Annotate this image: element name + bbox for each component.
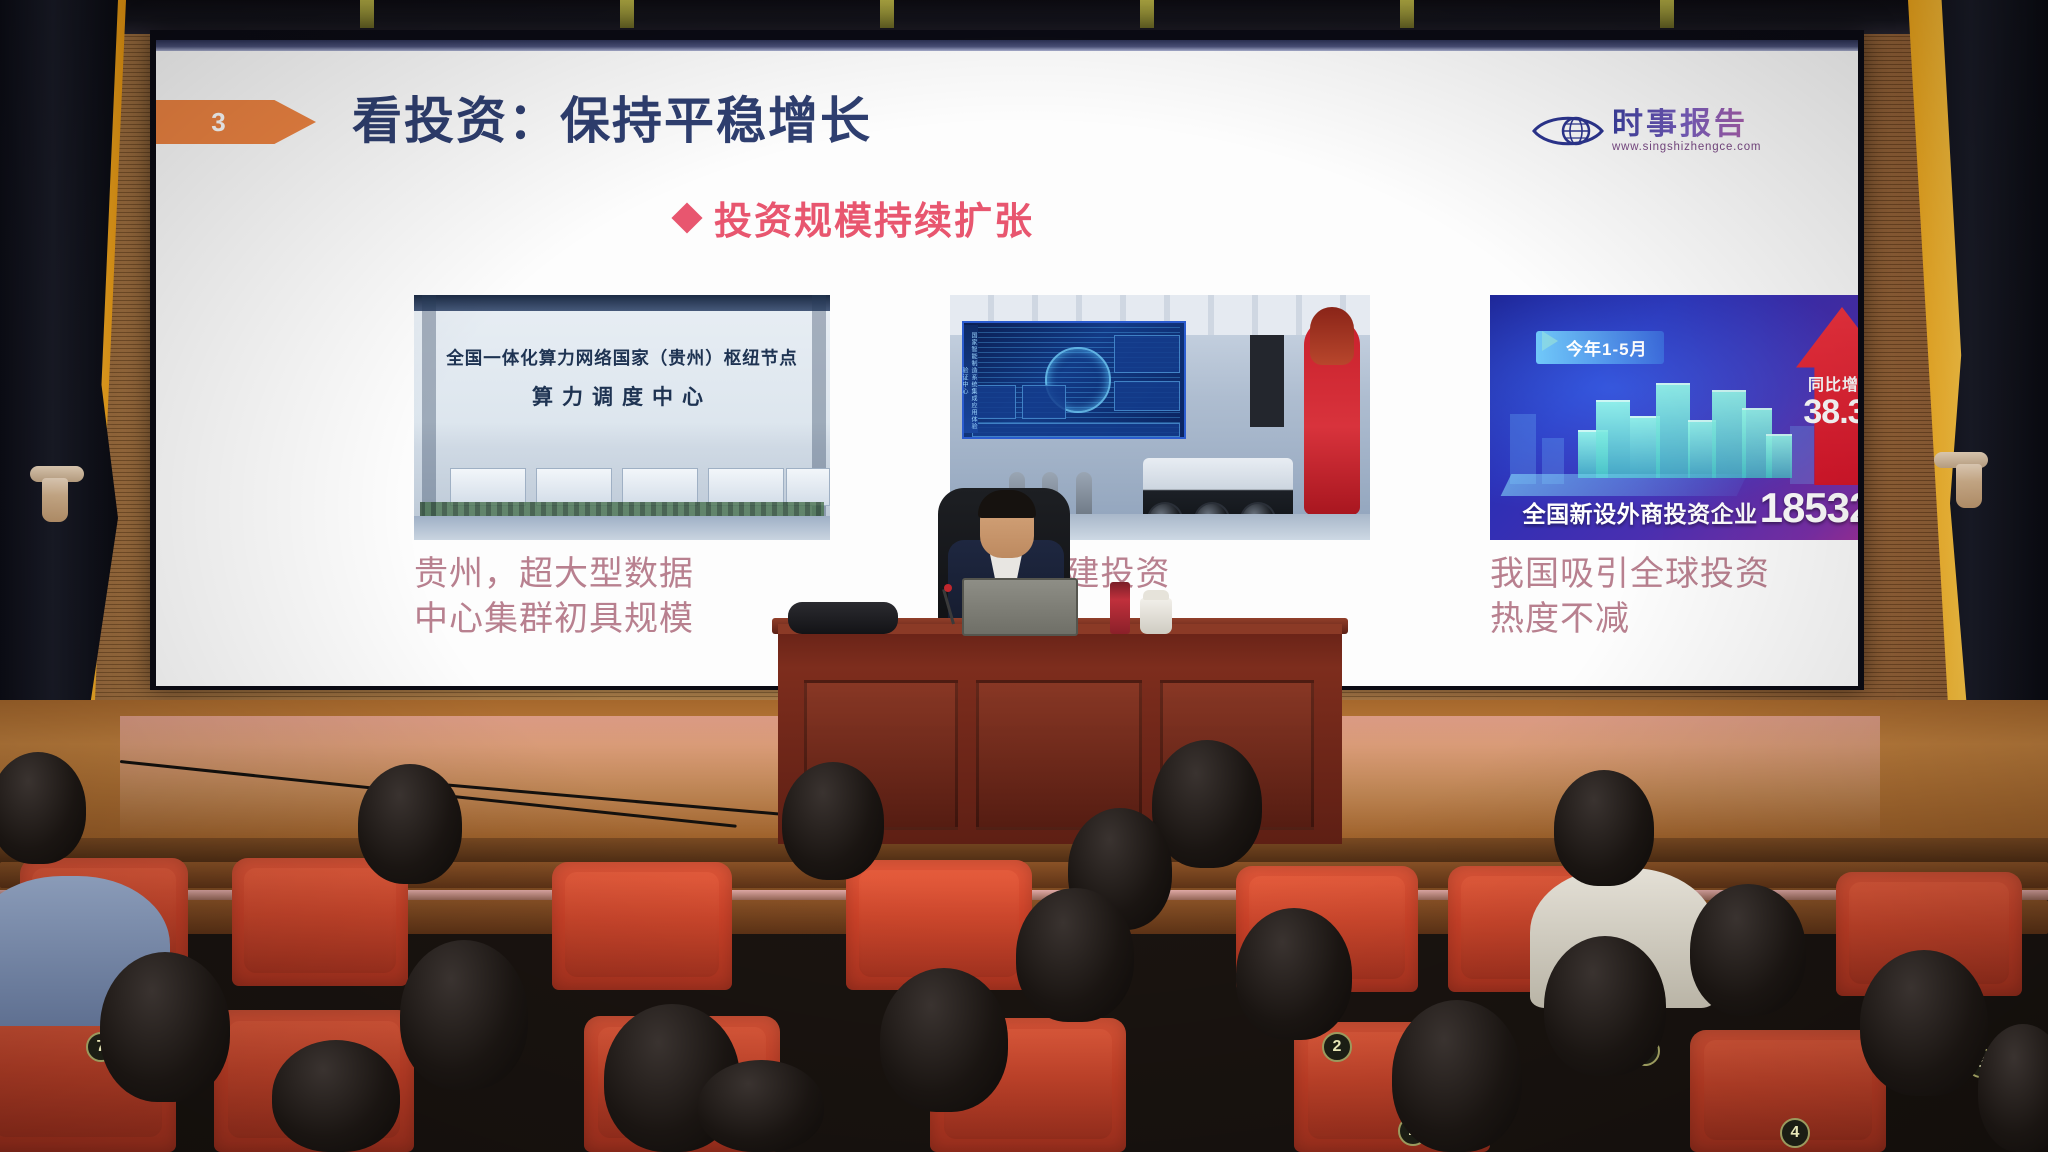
section-number-badge: 3 [156,100,316,144]
ceiling-light-strip [360,0,374,28]
stats-footer: 全国新设外商投资企业 18532 家 [1490,484,1858,532]
slide-header: 3 看投资：保持平稳增长 时事报告 www.singshizhengce.com [156,86,1858,156]
slide-image-guizhou-hub: 全国一体化算力网络国家（贵州）枢纽节点 算力调度中心 [414,295,830,540]
audience-head [1860,950,1988,1096]
slide-subtitle: 投资规模持续扩张 [676,190,1034,245]
desk-bag [788,602,898,634]
seat-number-badge: 2 [1322,1032,1352,1062]
exhibit-booth [708,468,784,506]
hall-header-band [414,295,830,311]
growth-value: 38.3% [1792,393,1858,432]
ceiling-band [0,0,2048,34]
growth-label: 同比增长 [1798,371,1858,395]
hall-signage-line2: 算力调度中心 [414,381,830,411]
video-wall [962,321,1186,439]
skyline-silhouette [1790,426,1814,484]
slide-top-border [156,40,1858,51]
panel-caption-foreign-investment: 我国吸引全球投资 热度不减 [1490,552,1858,642]
hall-signage-line1: 全国一体化算力网络国家（贵州）枢纽节点 [414,345,830,370]
bar [1712,390,1746,478]
audience-head [400,940,528,1090]
ceiling-light-strip [1660,0,1674,28]
brand-url: www.singshizhengce.com [1612,142,1761,154]
period-label: 今年1-5月 [1536,331,1664,364]
ceiling-light-strip [1400,0,1414,28]
visitor-hair [1310,307,1354,365]
audience-head [880,968,1008,1112]
ceiling-light-strip [1140,0,1154,28]
exhibit-booth [450,468,526,506]
video-wall-tile [1114,381,1180,411]
room-door [1250,335,1284,427]
bar [1596,400,1630,478]
audience-head [1978,1024,2048,1152]
video-wall-tile [1114,335,1180,373]
exhibit-booth [536,468,612,506]
diamond-bullet-icon [671,202,702,233]
exhibit-booth [786,468,830,506]
bar [1766,434,1792,478]
seat [552,862,732,990]
video-wall-tile [972,385,1016,419]
audience-head [782,762,884,880]
stats-background: 今年1-5月 同比增长 38.3% 全国新设外商投资企业 18532 家 [1490,295,1858,540]
curtain-tassel-left [42,478,68,522]
audience-head [358,764,462,884]
stats-footer-label: 全国新设外商投资企业 [1523,495,1758,529]
slide-title: 看投资：保持平稳增长 [352,86,872,156]
stats-footer-number: 18532 [1760,484,1858,532]
audience-head [1544,936,1666,1076]
thermos-bottle [1110,582,1130,634]
video-wall-side-label: 国家智能制造系统集成应用体验验证中心 [964,325,978,433]
ceiling-light-strip [620,0,634,28]
bar [1656,383,1690,478]
audience-head [1690,884,1806,1016]
audience-head [1236,908,1352,1040]
growth-number: 38.3 [1803,393,1858,431]
microphone-head [944,584,952,592]
auditorium-scene: 3 看投资：保持平稳增长 时事报告 www.singshizhengce.com [0,0,2048,1152]
tea-cup-lid [1143,590,1169,600]
exhibit-booth [622,468,698,506]
tea-cup [1140,598,1172,634]
slide-image-investment-stats: 今年1-5月 同比增长 38.3% 全国新设外商投资企业 18532 家 [1490,295,1858,540]
audience-head [1016,888,1134,1022]
audience-head [0,752,86,864]
audience-head [1392,1000,1522,1152]
hall-floor [414,516,830,540]
audience-head [698,1060,824,1152]
ceiling-light-strip [880,0,894,28]
stage-curtain-left [0,0,118,740]
brand-name: 时事报告 [1612,108,1761,139]
brand-logo: 时事报告 www.singshizhengce.com [1532,102,1832,160]
laptop [962,578,1078,636]
audience-head [1554,770,1654,886]
video-wall-tile [972,423,1180,437]
slide-subtitle-text: 投资规模持续扩张 [714,190,1034,245]
seat-number-badge: 4 [1780,1118,1810,1148]
curtain-tassel-right [1956,464,1982,508]
audience-head [100,952,230,1102]
eye-globe-logo-icon [1532,112,1604,150]
video-wall-tile [1022,385,1066,419]
audience-head [272,1040,400,1152]
